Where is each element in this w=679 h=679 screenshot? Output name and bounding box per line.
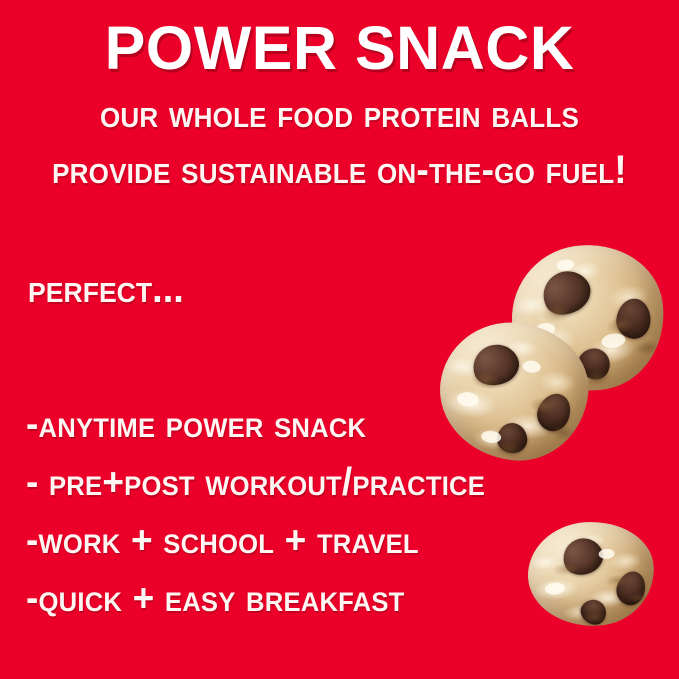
chocolate-chip-icon — [532, 388, 577, 436]
chocolate-chip-icon — [615, 297, 653, 340]
list-item: -Work + School + Travel — [26, 512, 482, 570]
oat-flake — [522, 360, 541, 374]
protein-ball-single-image — [528, 522, 656, 628]
protein-ball-cluster-image — [440, 245, 665, 460]
oat-flake — [556, 258, 575, 271]
chocolate-chip-icon — [576, 595, 611, 629]
list-item: -Quick + Easy Breakfast — [26, 570, 482, 628]
chocolate-chip-icon — [496, 422, 528, 454]
oat-flake — [601, 332, 627, 349]
list-item: -Anytime Power Snack — [26, 396, 482, 454]
power-snack-poster: POWER SNACK Our Whole Food Protein Balls… — [0, 0, 679, 679]
chocolate-chip-icon — [613, 568, 650, 609]
chocolate-chip-icon — [557, 532, 608, 581]
subtitle-line-1: Our Whole Food Protein Balls — [24, 94, 655, 134]
oat-flake — [456, 391, 479, 407]
oat-flake — [598, 548, 615, 559]
subtitle-line-2: Provide Sustainable On-The-Go FUEL! — [24, 150, 655, 190]
oat-flake — [481, 430, 502, 444]
protein-ball — [525, 518, 658, 631]
chocolate-chip-icon — [535, 263, 598, 323]
page-title: POWER SNACK — [0, 18, 679, 79]
benefit-list: -Anytime Power Snack - Pre+Post Workout/… — [26, 396, 506, 628]
oat-flake — [545, 582, 566, 595]
chocolate-chip-icon — [467, 338, 524, 391]
intro-text: Perfect... — [28, 269, 184, 309]
list-item: - Pre+Post Workout/Practice — [26, 454, 482, 512]
